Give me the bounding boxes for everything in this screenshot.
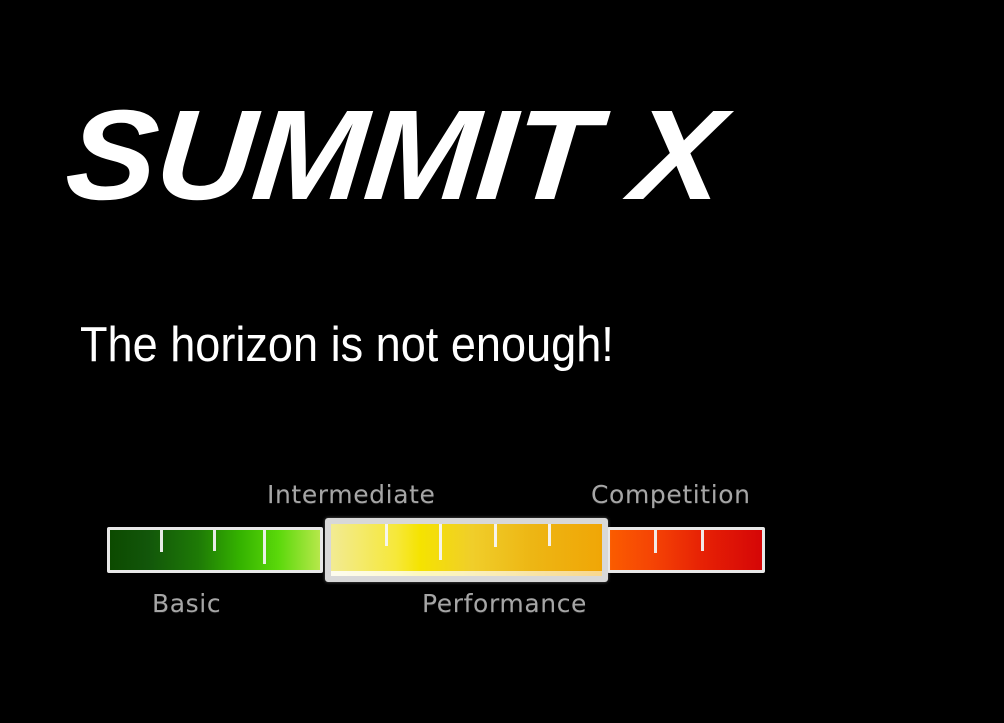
tick-mark [701, 530, 704, 551]
tick-mark [160, 530, 163, 552]
meter-segment-performance[interactable] [325, 518, 608, 582]
meter-segment-basic[interactable] [107, 527, 323, 573]
meter-label-competition: Competition [591, 480, 751, 510]
meter-track[interactable] [104, 519, 784, 581]
brand-logo: SUMMIT X [61, 83, 816, 228]
meter-label-basic: Basic [152, 589, 221, 619]
tagline: The horizon is not enough! [80, 314, 761, 376]
performance-meter: Intermediate Competition Basic Performan… [104, 478, 784, 626]
tick-mark [494, 524, 497, 547]
tick-mark [213, 530, 216, 551]
tick-mark [385, 524, 388, 546]
tick-mark [263, 530, 266, 564]
tick-mark [548, 524, 551, 546]
slide-canvas: SUMMIT X The horizon is not enough! Inte… [0, 0, 1004, 723]
meter-segment-competition[interactable] [607, 527, 765, 573]
tick-mark [439, 524, 442, 560]
panel-gloss [331, 571, 602, 576]
tick-mark [654, 530, 657, 553]
meter-label-performance: Performance [422, 589, 587, 619]
meter-label-intermediate: Intermediate [267, 480, 436, 510]
